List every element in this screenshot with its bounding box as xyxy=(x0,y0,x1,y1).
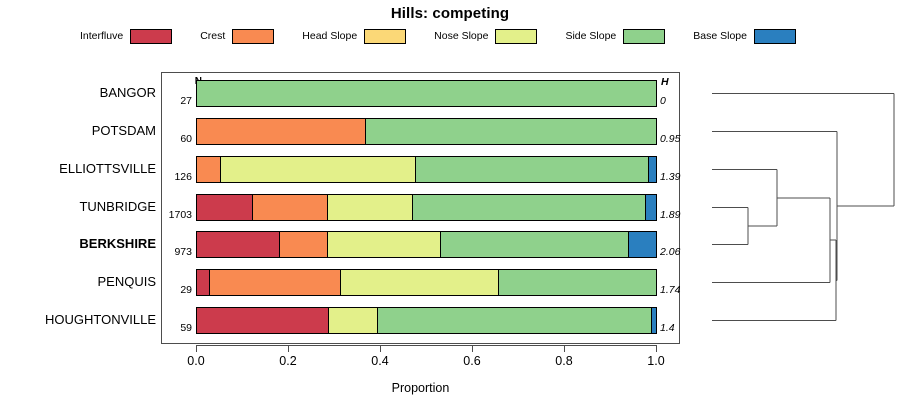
bar-segment-base-slope xyxy=(651,307,657,334)
legend-item-head-slope: Head Slope xyxy=(302,29,406,44)
legend-swatch-head-slope xyxy=(364,29,406,44)
bar-row xyxy=(196,80,656,107)
bar-segment-side-slope xyxy=(415,156,650,183)
page-title: Hills: competing xyxy=(0,5,900,22)
legend-swatch-side-slope xyxy=(623,29,665,44)
bar-row xyxy=(196,269,656,296)
bar-row xyxy=(196,118,656,145)
x-axis-tick-label: 0.0 xyxy=(171,354,221,368)
category-label-tunbridge: TUNBRIDGE xyxy=(0,199,156,214)
bar-segment-nose-slope xyxy=(340,269,500,296)
legend-swatch-nose-slope xyxy=(495,29,537,44)
n-value-elliottsville: 126 xyxy=(156,171,192,183)
x-axis-tick xyxy=(196,345,197,352)
bar-row xyxy=(196,307,656,334)
x-axis-title: Proportion xyxy=(161,381,680,395)
x-axis-tick-label: 0.4 xyxy=(355,354,405,368)
dendrogram xyxy=(690,72,900,344)
legend-item-label: Nose Slope xyxy=(434,30,488,42)
legend-item-crest: Crest xyxy=(200,29,274,44)
legend-item-nose-slope: Nose Slope xyxy=(434,29,537,44)
bar-row xyxy=(196,231,656,258)
legend-item-base-slope: Base Slope xyxy=(693,29,796,44)
bar-segment-interfluve xyxy=(196,231,280,258)
n-value-houghtonville: 59 xyxy=(156,322,192,334)
legend-gap xyxy=(665,36,693,37)
legend-item-label: Crest xyxy=(200,30,225,42)
x-axis-tick xyxy=(564,345,565,352)
legend-gap xyxy=(406,36,434,37)
x-axis: 0.00.20.40.60.81.0 xyxy=(161,345,680,385)
n-value-berkshire: 973 xyxy=(156,246,192,258)
bar-segment-side-slope xyxy=(440,231,630,258)
legend-item-label: Base Slope xyxy=(693,30,747,42)
bar-segment-nose-slope xyxy=(328,307,378,334)
n-value-penquis: 29 xyxy=(156,284,192,296)
legend-gap xyxy=(537,36,565,37)
x-axis-tick xyxy=(288,345,289,352)
n-value-tunbridge: 1703 xyxy=(156,209,192,221)
category-label-elliottsville: ELLIOTTSVILLE xyxy=(0,161,156,176)
x-axis-tick-label: 1.0 xyxy=(631,354,681,368)
bar-segment-nose-slope xyxy=(327,194,414,221)
x-axis-line xyxy=(196,345,656,346)
x-axis-tick-label: 0.2 xyxy=(263,354,313,368)
legend-item-label: Interfluve xyxy=(80,30,123,42)
bar-row xyxy=(196,156,656,183)
legend-swatch-base-slope xyxy=(754,29,796,44)
bar-segment-nose-slope xyxy=(220,156,416,183)
x-axis-tick xyxy=(380,345,381,352)
bar-segment-crest xyxy=(196,156,221,183)
bar-segment-interfluve xyxy=(196,194,254,221)
x-axis-tick-label: 0.8 xyxy=(539,354,589,368)
bar-segment-base-slope xyxy=(645,194,657,221)
bar-segment-crest xyxy=(209,269,342,296)
legend-item-interfluve: Interfluve xyxy=(80,29,172,44)
category-label-potsdam: POTSDAM xyxy=(0,123,156,138)
n-value-potsdam: 60 xyxy=(156,133,192,145)
bar-segment-side-slope xyxy=(498,269,657,296)
bar-segment-base-slope xyxy=(628,231,657,258)
bar-segment-side-slope xyxy=(365,118,657,145)
category-label-houghtonville: HOUGHTONVILLE xyxy=(0,312,156,327)
legend-item-label: Side Slope xyxy=(565,30,616,42)
legend-item-side-slope: Side Slope xyxy=(565,29,665,44)
bar-segment-side-slope xyxy=(196,80,657,107)
legend-swatch-crest xyxy=(232,29,274,44)
bar-segment-nose-slope xyxy=(327,231,441,258)
bar-segment-side-slope xyxy=(412,194,646,221)
bar-row xyxy=(196,194,656,221)
bar-segment-base-slope xyxy=(648,156,657,183)
category-label-bangor: BANGOR xyxy=(0,85,156,100)
figure-canvas: Hills: competing InterfluveCrestHead Slo… xyxy=(0,0,900,420)
legend: InterfluveCrestHead SlopeNose SlopeSide … xyxy=(80,26,820,46)
legend-gap xyxy=(274,36,302,37)
bar-segment-side-slope xyxy=(377,307,653,334)
legend-swatch-interfluve xyxy=(130,29,172,44)
category-label-berkshire: BERKSHIRE xyxy=(0,236,156,251)
n-value-bangor: 27 xyxy=(156,95,192,107)
x-axis-tick-label: 0.6 xyxy=(447,354,497,368)
bar-segment-crest xyxy=(252,194,328,221)
legend-item-label: Head Slope xyxy=(302,30,357,42)
x-axis-tick xyxy=(656,345,657,352)
category-label-penquis: PENQUIS xyxy=(0,274,156,289)
bar-segment-interfluve xyxy=(196,307,329,334)
x-axis-tick xyxy=(472,345,473,352)
bar-segment-crest xyxy=(196,118,367,145)
bar-segment-crest xyxy=(279,231,329,258)
legend-gap xyxy=(172,36,200,37)
